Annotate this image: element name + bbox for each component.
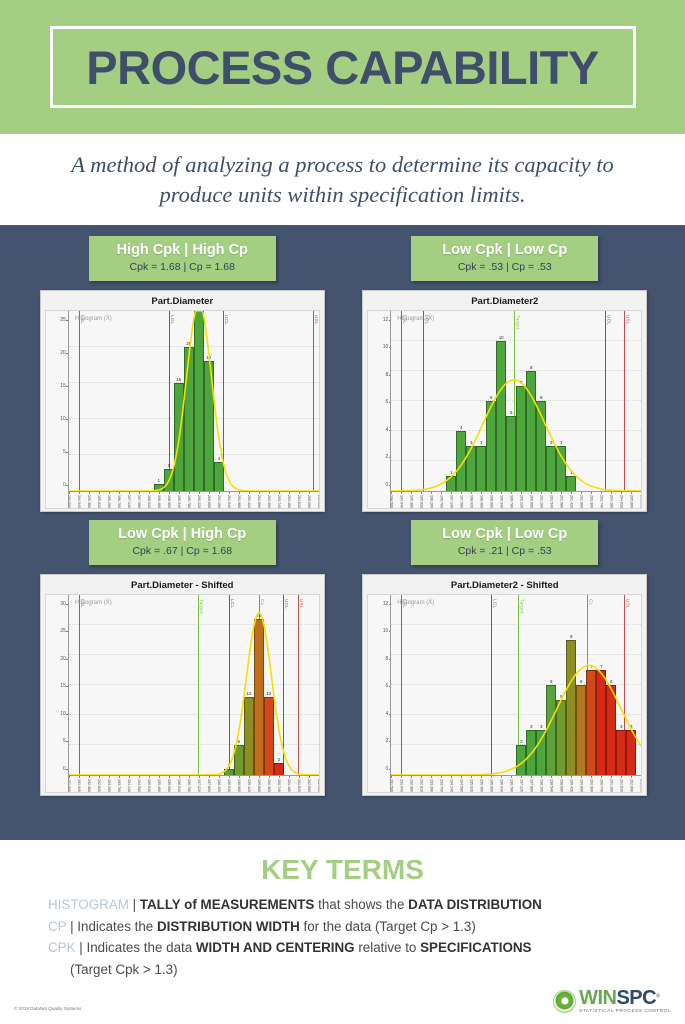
x-axis-tickmark [189, 492, 190, 494]
x-axis-tick: 198.980 [237, 779, 241, 792]
x-axis-tick: 203.740 [599, 495, 603, 508]
x-axis-tickmark [391, 776, 392, 778]
x-axis-tickmark [229, 776, 230, 778]
chart-card[interactable]: Part.Diameter2024681012LSLLCLTargetUCLUS… [362, 290, 647, 512]
x-axis-tick: 194.580 [459, 779, 463, 792]
x-axis-tickmark [621, 492, 622, 494]
y-axis-tick: 10 [383, 344, 389, 350]
logo-spc-text: SPC [616, 987, 656, 1009]
x-axis-tickmark [411, 492, 412, 494]
x-axis-tick: 198.020 [469, 495, 473, 508]
x-axis-tickmark [531, 776, 532, 778]
page-title: PROCESS CAPABILITY [86, 44, 598, 91]
x-axis-tickmark [119, 776, 120, 778]
x-axis-tickmark [521, 492, 522, 494]
badge-title: High Cpk | High Cp [93, 241, 272, 259]
x-axis-tick: 201.980 [559, 495, 563, 508]
x-axis-tickmark [179, 492, 180, 494]
x-axis-tickmark [401, 492, 402, 494]
x-axis-tickmark [259, 776, 260, 778]
x-axis-tickmark [269, 492, 270, 494]
x-axis-tick: 198.100 [539, 779, 543, 792]
key-term-text: Indicates the data [86, 940, 195, 955]
x-axis-tickmark [451, 492, 452, 494]
x-axis-tick: 196.780 [509, 779, 513, 792]
badge-values: Cpk = .53 | Cp = .53 [415, 260, 594, 275]
x-axis-tick: 203.740 [277, 495, 281, 508]
x-axis-tickmark [501, 776, 502, 778]
x-axis-tick: 202.860 [257, 495, 261, 508]
x-axis-tick: 203.300 [589, 495, 593, 508]
winspc-logo-text: WINSPC® STATISTICAL PROCESS CONTROL [579, 988, 671, 1014]
x-axis-tickmark [581, 492, 582, 494]
y-axis-tick: 0 [385, 482, 388, 488]
winspc-logo: WINSPC® STATISTICAL PROCESS CONTROL [553, 988, 671, 1014]
y-axis-tick: 5 [63, 449, 66, 455]
x-axis-tick: 194.500 [390, 495, 393, 508]
chart-card[interactable]: Part.Diameter - Shifted051015202530LSLTa… [40, 574, 325, 796]
x-axis-tick: 201.620 [297, 779, 301, 792]
x-axis-tick: 193.260 [429, 779, 433, 792]
y-axis-tick: 12 [383, 601, 389, 607]
x-axis-tickmark [89, 492, 90, 494]
y-axis: 024681012 [368, 311, 390, 508]
x-axis-tickmark [129, 776, 130, 778]
x-axis-tick: 191.940 [77, 779, 81, 792]
y-axis-tick: 0 [63, 766, 66, 772]
x-axis-tick: 198.540 [549, 779, 553, 792]
x-axis-tick: 194.140 [127, 779, 131, 792]
x-axis-tickmark [401, 776, 402, 778]
chart-title: Part.Diameter2 - Shifted [367, 578, 642, 594]
x-axis: 191.500191.940192.380192.820193.260193.7… [69, 775, 319, 792]
x-axis-tick: 198.540 [227, 779, 231, 792]
x-axis-tick: 198.020 [147, 495, 151, 508]
x-axis-tick: 195.460 [157, 779, 161, 792]
x-axis-tick: 192.380 [409, 779, 413, 792]
x-axis-tickmark [209, 492, 210, 494]
x-axis-tick: 195.020 [147, 779, 151, 792]
hero-banner: PROCESS CAPABILITY [0, 0, 685, 134]
x-axis-tick: 201.100 [217, 495, 221, 508]
x-axis-tick: 195.460 [479, 779, 483, 792]
key-term-emphasis: DISTRIBUTION WIDTH [157, 919, 300, 934]
x-axis-tick: 199.780 [187, 495, 191, 508]
x-axis-tickmark [309, 776, 310, 778]
key-terms-list: HISTOGRAM | TALLY of MEASUREMENTS that s… [0, 894, 685, 981]
y-axis-tick: 0 [385, 766, 388, 772]
x-axis-tick: 205.060 [629, 495, 633, 508]
y-axis-tick: 5 [63, 738, 66, 744]
x-axis-tickmark [89, 776, 90, 778]
x-axis-tick: 200.300 [589, 779, 593, 792]
x-axis-tickmark [299, 776, 300, 778]
plot-inner: LSLTargetLCLCLUCLUSL151326132Histogram (… [69, 595, 319, 775]
x-axis-tick: 201.180 [609, 779, 613, 792]
plot-area: 0510152025LSLLCLTargetUCLUSL13152025184H… [45, 310, 320, 509]
y-axis-tick: 0 [63, 482, 66, 488]
x-axis-tick: 202.860 [579, 495, 583, 508]
x-axis-tick: 199.780 [509, 495, 513, 508]
x-axis-tick: 197.220 [197, 779, 201, 792]
y-axis-tick: 8 [385, 372, 388, 378]
hero-frame: PROCESS CAPABILITY [50, 26, 636, 108]
x-axis-tick: 195.820 [419, 495, 423, 508]
x-axis-tickmark [391, 492, 392, 494]
x-axis-tickmark [601, 492, 602, 494]
x-axis-tickmark [239, 492, 240, 494]
x-axis-tick: 204.620 [619, 495, 623, 508]
key-term-name: CPK [48, 940, 76, 955]
copyright-text: © 2019 DataNet Quality Systems [14, 1006, 81, 1011]
x-axis-tickmark [451, 776, 452, 778]
x-axis-tick: 202.420 [569, 495, 573, 508]
x-axis-tick: 197.660 [529, 779, 533, 792]
x-axis-tickmark [199, 776, 200, 778]
x-axis-tickmark [511, 492, 512, 494]
y-axis-tick: 2 [385, 738, 388, 744]
x-axis-tickmark [501, 492, 502, 494]
x-axis: 191.500191.940192.380192.820193.260193.7… [391, 775, 641, 792]
x-axis-tick: 200.740 [277, 779, 281, 792]
x-axis-tickmark [279, 492, 280, 494]
x-axis-tick: 197.140 [127, 495, 131, 508]
x-axis-tick: 195.020 [469, 779, 473, 792]
plot-canvas: LSLLCLTargetCLUSL233659677633Histogram (… [390, 595, 641, 792]
x-axis-tickmark [159, 492, 160, 494]
badge-title: Low Cpk | Low Cp [415, 525, 594, 543]
key-term-text: relative to [355, 940, 421, 955]
key-term-continuation: (Target Cpk > 1.3) [48, 959, 657, 981]
y-axis-tick: 4 [385, 711, 388, 717]
y-axis: 024681012 [368, 595, 390, 792]
y-axis-tick: 10 [60, 711, 66, 717]
x-axis-tick: 193.700 [117, 779, 121, 792]
x-axis-tick: 199.860 [579, 779, 583, 792]
x-axis-tick: 201.620 [619, 779, 623, 792]
x-axis-tick: 195.820 [97, 495, 101, 508]
x-axis-tickmark [99, 776, 100, 778]
x-axis-tickmark [199, 492, 200, 494]
logo-tagline: STATISTICAL PROCESS CONTROL [579, 1009, 671, 1014]
x-axis-tickmark [631, 492, 632, 494]
key-term-emphasis: WIDTH AND CENTERING [196, 940, 355, 955]
key-term-row: CP | Indicates the DISTRIBUTION WIDTH fo… [48, 916, 657, 938]
y-axis-tick: 20 [60, 350, 66, 356]
x-axis-tick: 202.420 [247, 495, 251, 508]
x-axis-tick: 195.380 [409, 495, 413, 508]
key-term-separator: | [129, 897, 140, 912]
key-term-separator: | [76, 940, 87, 955]
x-axis-tickmark [431, 492, 432, 494]
x-axis-tickmark [69, 492, 70, 494]
x-axis-tick: 198.460 [157, 495, 161, 508]
x-axis-tickmark [521, 776, 522, 778]
y-axis-tick: 30 [60, 601, 66, 607]
x-axis-tick: 201.540 [227, 495, 231, 508]
x-axis-tickmark [249, 492, 250, 494]
x-axis-tickmark [79, 776, 80, 778]
x-axis-tick: 193.260 [107, 779, 111, 792]
x-axis-tick: 202.060 [307, 779, 311, 792]
y-axis-tick: 15 [60, 383, 66, 389]
chart-card[interactable]: Part.Diameter0510152025LSLLCLTargetUCLUS… [40, 290, 325, 512]
x-axis-tickmark [259, 492, 260, 494]
x-axis-tickmark [441, 776, 442, 778]
plot-canvas: LSLLCLTargetUCLUSL13152025184Histogram (… [68, 311, 319, 508]
x-axis-tick: 201.980 [237, 495, 241, 508]
x-axis-tickmark [491, 492, 492, 494]
x-axis-tick: 191.940 [399, 779, 403, 792]
x-axis-tick: 200.220 [519, 495, 523, 508]
key-term-row: HISTOGRAM | TALLY of MEASUREMENTS that s… [48, 894, 657, 916]
x-axis-tickmark [289, 776, 290, 778]
winspc-logo-icon [553, 990, 576, 1013]
x-axis-tickmark [169, 492, 170, 494]
key-term-emphasis: DATA DISTRIBUTION [408, 897, 542, 912]
x-axis-tickmark [511, 776, 512, 778]
charts-panel: High Cpk | High CpCpk = 1.68 | Cp = 1.68… [0, 225, 685, 840]
y-axis-tick: 10 [383, 628, 389, 634]
x-axis-tick: 196.340 [499, 779, 503, 792]
y-axis-tick: 15 [60, 683, 66, 689]
y-axis-tick: 2 [385, 454, 388, 460]
x-axis-tick: 201.540 [549, 495, 553, 508]
x-axis-tickmark [591, 492, 592, 494]
x-axis-tick: 192.380 [87, 779, 91, 792]
x-axis-tickmark [621, 776, 622, 778]
normal-curve [391, 311, 641, 491]
x-axis-tickmark [481, 492, 482, 494]
y-axis-tick: 8 [385, 656, 388, 662]
chart-title: Part.Diameter2 [367, 294, 642, 310]
y-axis: 0510152025 [46, 311, 68, 508]
chart-cell: Low Cpk | Low CpCpk = .53 | Cp = .53Part… [361, 236, 650, 512]
badge-values: Cpk = .67 | Cp = 1.68 [93, 544, 272, 559]
x-axis-tickmark [269, 776, 270, 778]
x-axis-tickmark [299, 492, 300, 494]
key-term-name: HISTOGRAM [48, 897, 129, 912]
x-axis-tick: 202.500 [639, 779, 641, 792]
y-axis-tick: 12 [383, 317, 389, 323]
x-axis-tick: 198.980 [559, 779, 563, 792]
key-term-emphasis: TALLY of MEASUREMENTS [140, 897, 315, 912]
x-axis-tick: 195.380 [87, 495, 91, 508]
x-axis-tick: 202.060 [629, 779, 633, 792]
chart-cell: Low Cpk | Low CpCpk = .21 | Cp = .53Part… [361, 520, 650, 796]
x-axis-tickmark [69, 776, 70, 778]
normal-curve [391, 595, 641, 775]
x-axis-tick: 200.300 [267, 779, 271, 792]
capability-badge: High Cpk | High CpCpk = 1.68 | Cp = 1.68 [89, 236, 276, 281]
x-axis-tickmark [139, 492, 140, 494]
x-axis-tickmark [129, 492, 130, 494]
x-axis: 194.500194.940195.380195.820196.260196.7… [391, 491, 641, 508]
x-axis-tickmark [631, 776, 632, 778]
x-axis-tick: 205.060 [307, 495, 311, 508]
key-term-separator: | [66, 919, 77, 934]
x-axis-tick: 194.580 [137, 779, 141, 792]
x-axis-tickmark [159, 776, 160, 778]
badge-values: Cpk = 1.68 | Cp = 1.68 [93, 260, 272, 275]
x-axis-tickmark [149, 492, 150, 494]
x-axis-tickmark [591, 776, 592, 778]
x-axis-tickmark [431, 776, 432, 778]
x-axis-tick: 196.340 [177, 779, 181, 792]
x-axis-tickmark [219, 776, 220, 778]
x-axis-tickmark [249, 776, 250, 778]
x-axis-tick: 196.700 [117, 495, 121, 508]
charts-grid: High Cpk | High CpCpk = 1.68 | Cp = 1.68… [0, 225, 685, 796]
plot-inner: LSLLCLTargetUCLUSL14336105786331Histogra… [391, 311, 641, 491]
chart-cell: High Cpk | High CpCpk = 1.68 | Cp = 1.68… [38, 236, 327, 512]
x-axis-tick: 199.860 [257, 779, 261, 792]
key-terms-title: KEY TERMS [0, 854, 685, 886]
x-axis-tick: 204.620 [297, 495, 301, 508]
x-axis-tick: 205.500 [317, 495, 319, 508]
x-axis-tick: 194.140 [449, 779, 453, 792]
plot-inner: LSLLCLTargetUCLUSL13152025184Histogram (… [69, 311, 319, 491]
x-axis-tick: 197.660 [207, 779, 211, 792]
plot-inner: LSLLCLTargetCLUSL233659677633Histogram (… [391, 595, 641, 775]
chart-title: Part.Diameter [45, 294, 320, 310]
x-axis-tick: 191.500 [390, 779, 393, 792]
key-term-name: CP [48, 919, 66, 934]
x-axis-tickmark [611, 776, 612, 778]
x-axis-tick: 199.340 [177, 495, 181, 508]
plot-canvas: LSLLCLTargetUCLUSL14336105786331Histogra… [390, 311, 641, 508]
logo-win-text: WIN [579, 987, 616, 1009]
x-axis-tickmark [611, 492, 612, 494]
x-axis-tick: 192.820 [419, 779, 423, 792]
x-axis-tickmark [571, 776, 572, 778]
key-term-text: that shows the [314, 897, 408, 912]
normal-curve [69, 311, 319, 491]
x-axis-tick: 200.220 [197, 495, 201, 508]
histogram-note: Histogram (X̄) [397, 316, 434, 322]
x-axis-tick: 197.220 [519, 779, 523, 792]
key-term-emphasis: SPECIFICATIONS [420, 940, 531, 955]
x-axis-tick: 204.180 [609, 495, 613, 508]
x-axis-tickmark [561, 492, 562, 494]
y-axis-tick: 25 [60, 628, 66, 634]
histogram-note: Histogram (X̄) [75, 600, 112, 606]
x-axis-tickmark [421, 492, 422, 494]
x-axis-tickmark [109, 492, 110, 494]
x-axis-tickmark [209, 776, 210, 778]
chart-card[interactable]: Part.Diameter2 - Shifted024681012LSLLCLT… [362, 574, 647, 796]
badge-title: Low Cpk | Low Cp [415, 241, 594, 259]
logo-registered-icon: ® [656, 994, 660, 1000]
x-axis-tickmark [309, 492, 310, 494]
y-axis-tick: 6 [385, 683, 388, 689]
x-axis-tickmark [471, 492, 472, 494]
x-axis-tickmark [601, 776, 602, 778]
x-axis-tickmark [239, 776, 240, 778]
x-axis-tickmark [119, 492, 120, 494]
y-axis-tick: 4 [385, 427, 388, 433]
capability-badge: Low Cpk | Low CpCpk = .53 | Cp = .53 [411, 236, 598, 281]
x-axis-tick: 196.260 [429, 495, 433, 508]
x-axis-tick: 198.100 [217, 779, 221, 792]
badge-values: Cpk = .21 | Cp = .53 [415, 544, 594, 559]
x-axis-tickmark [219, 492, 220, 494]
x-axis-tickmark [461, 492, 462, 494]
x-axis-tickmark [551, 776, 552, 778]
x-axis-tick: 196.700 [439, 495, 443, 508]
capability-badge: Low Cpk | High CpCpk = .67 | Cp = 1.68 [89, 520, 276, 565]
x-axis-tick: 200.660 [207, 495, 211, 508]
x-axis-tick: 194.940 [399, 495, 403, 508]
x-axis-tick: 197.580 [459, 495, 463, 508]
x-axis-tick: 196.260 [107, 495, 111, 508]
x-axis-tickmark [481, 776, 482, 778]
x-axis-tickmark [79, 492, 80, 494]
x-axis-tickmark [571, 492, 572, 494]
x-axis-tickmark [411, 776, 412, 778]
x-axis-tick: 197.580 [137, 495, 141, 508]
x-axis-tick: 194.500 [68, 495, 71, 508]
x-axis-tickmark [149, 776, 150, 778]
x-axis-tickmark [541, 492, 542, 494]
plot-area: 024681012LSLLCLTargetCLUSL233659677633Hi… [367, 594, 642, 793]
x-axis-tickmark [531, 492, 532, 494]
x-axis-tickmark [289, 492, 290, 494]
normal-curve [69, 595, 319, 775]
y-axis: 051015202530 [46, 595, 68, 792]
x-axis-tick: 204.180 [287, 495, 291, 508]
key-terms-section: KEY TERMS HISTOGRAM | TALLY of MEASUREME… [0, 840, 685, 1024]
y-axis-tick: 25 [60, 317, 66, 323]
x-axis-tick: 195.900 [167, 779, 171, 792]
plot-area: 051015202530LSLTargetLCLCLUCLUSL15132613… [45, 594, 320, 793]
plot-area: 024681012LSLLCLTargetUCLUSL1433610578633… [367, 310, 642, 509]
y-axis-tick: 10 [60, 416, 66, 422]
x-axis-tickmark [189, 776, 190, 778]
x-axis-tickmark [461, 776, 462, 778]
x-axis-tickmark [561, 776, 562, 778]
x-axis-tickmark [421, 776, 422, 778]
x-axis-tick: 200.740 [599, 779, 603, 792]
subtitle-text: A method of analyzing a process to deter… [43, 150, 643, 210]
x-axis-tick: 197.140 [449, 495, 453, 508]
x-axis-tick: 195.900 [489, 779, 493, 792]
x-axis-tickmark [109, 776, 110, 778]
histogram-note: Histogram (X̄) [75, 316, 112, 322]
chart-cell: Low Cpk | High CpCpk = .67 | Cp = 1.68Pa… [38, 520, 327, 796]
key-term-text: for the data (Target Cp > 1.3) [300, 919, 476, 934]
x-axis-tick: 198.900 [489, 495, 493, 508]
x-axis-tickmark [581, 776, 582, 778]
key-term-text: Indicates the [77, 919, 157, 934]
x-axis-tick: 194.940 [77, 495, 81, 508]
x-axis-tick: 198.460 [479, 495, 483, 508]
x-axis-tick: 202.500 [317, 779, 319, 792]
key-term-row: CPK | Indicates the data WIDTH AND CENTE… [48, 937, 657, 959]
x-axis-tick: 196.780 [187, 779, 191, 792]
x-axis-tickmark [471, 776, 472, 778]
x-axis-tick: 205.500 [639, 495, 641, 508]
x-axis-tick: 199.420 [247, 779, 251, 792]
x-axis-tickmark [279, 776, 280, 778]
x-axis-tickmark [99, 492, 100, 494]
badge-title: Low Cpk | High Cp [93, 525, 272, 543]
x-axis-tick: 198.900 [167, 495, 171, 508]
plot-canvas: LSLTargetLCLCLUCLUSL151326132Histogram (… [68, 595, 319, 792]
x-axis-tickmark [551, 492, 552, 494]
capability-badge: Low Cpk | Low CpCpk = .21 | Cp = .53 [411, 520, 598, 565]
x-axis-tickmark [541, 776, 542, 778]
